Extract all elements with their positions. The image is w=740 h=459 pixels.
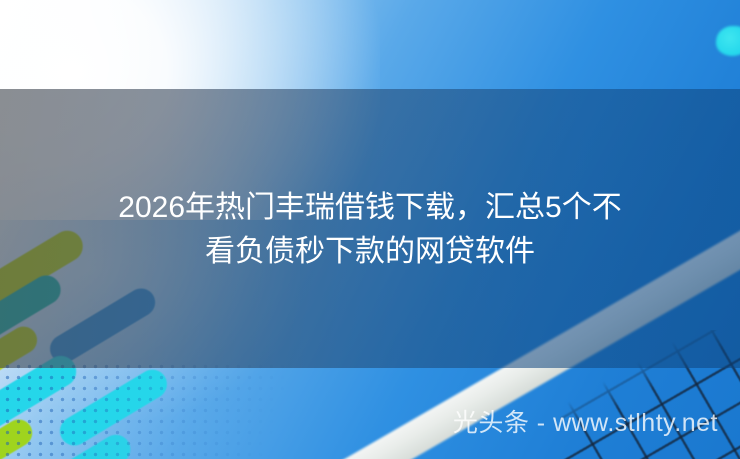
cyan-blob-icon	[716, 26, 740, 56]
banner-title: 2026年热门丰瑞借钱下载，汇总5个不 看负债秒下款的网贷软件	[0, 186, 740, 274]
promo-banner: 2026年热门丰瑞借钱下载，汇总5个不 看负债秒下款的网贷软件 光头条 - ww…	[0, 0, 740, 459]
site-watermark: 光头条 - www.stlhty.net	[0, 407, 740, 439]
